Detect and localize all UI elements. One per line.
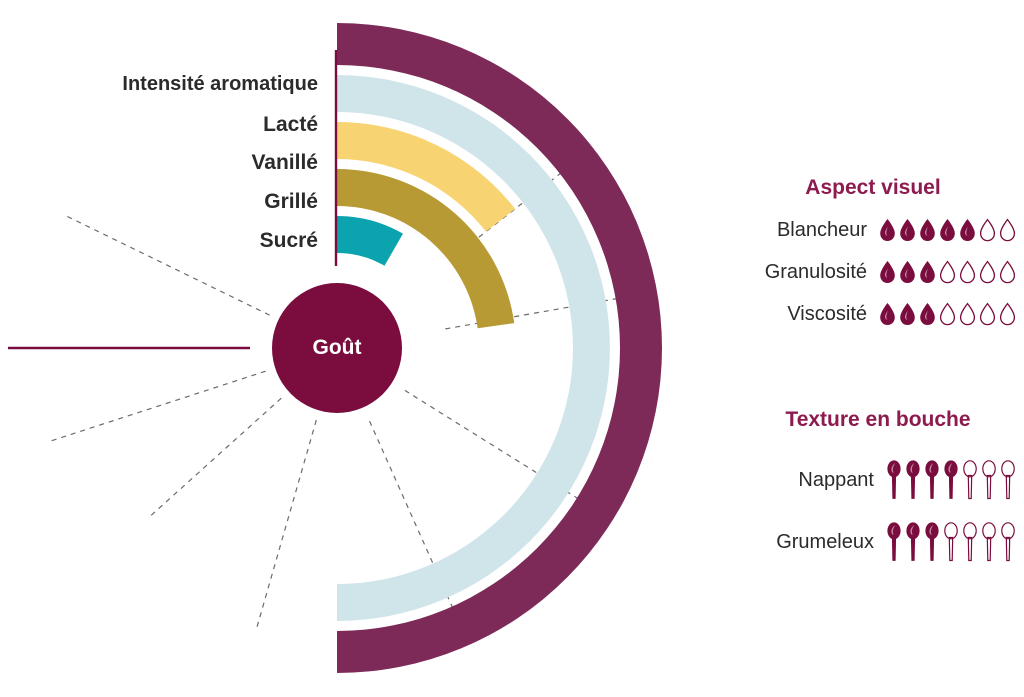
drop-icon: [919, 218, 936, 242]
panel-title-texture-en-bouche: Texture en bouche: [748, 408, 1016, 432]
rating-row-blancheur: Blancheur: [748, 218, 1016, 242]
rating-label-viscosite: Viscosité: [787, 303, 879, 326]
spoon-icon: [905, 522, 921, 562]
drop-icon: [879, 302, 896, 326]
rating-icons-nappant: [886, 460, 1016, 500]
axis-label-intensite-aromatique: Intensité aromatique: [0, 74, 318, 94]
drop-icon: [899, 260, 916, 284]
radial-gridline-6: [52, 371, 266, 441]
spoon-icon: [924, 460, 940, 500]
drop-icon: [899, 302, 916, 326]
drop-icon: [919, 260, 936, 284]
spoon-icon: [981, 522, 997, 562]
rating-label-grumeleux: Grumeleux: [776, 531, 886, 554]
spoon-icon: [1000, 522, 1016, 562]
panel-texture-en-bouche: Texture en bouche Nappant Grumeleux: [748, 408, 1016, 562]
drop-icon: [999, 302, 1016, 326]
spoon-icon: [943, 460, 959, 500]
spoon-icon: [962, 460, 978, 500]
axis-label-sucre: Sucré: [0, 230, 318, 251]
drop-icon: [979, 260, 996, 284]
spoon-icon: [886, 460, 902, 500]
drop-icon: [919, 302, 936, 326]
drop-icon: [999, 260, 1016, 284]
drop-icon: [999, 218, 1016, 242]
spoon-icon: [1000, 460, 1016, 500]
rating-row-nappant: Nappant: [748, 460, 1016, 500]
spoon-icon: [924, 522, 940, 562]
spoon-icon: [962, 522, 978, 562]
drop-icon: [959, 260, 976, 284]
rating-label-nappant: Nappant: [798, 469, 886, 492]
spoon-icon: [886, 522, 902, 562]
drop-icon: [959, 302, 976, 326]
drop-icon: [979, 302, 996, 326]
drop-icon: [979, 218, 996, 242]
rating-icons-viscosite: [879, 302, 1016, 326]
drop-icon: [879, 218, 896, 242]
sensory-profile-infographic: Goût Intensité aromatique Lacté Vanillé …: [0, 0, 1024, 697]
rating-row-viscosite: Viscosité: [748, 302, 1016, 326]
radial-band-sucr: [337, 216, 403, 266]
drop-icon: [959, 218, 976, 242]
rating-icons-granulosite: [879, 260, 1016, 284]
rating-row-granulosite: Granulosité: [748, 260, 1016, 284]
rating-label-granulosite: Granulosité: [765, 261, 879, 284]
drop-icon: [939, 302, 956, 326]
axis-label-lacte: Lacté: [0, 114, 318, 135]
panel-title-aspect-visuel: Aspect visuel: [748, 176, 1016, 200]
spoon-icon: [981, 460, 997, 500]
drop-icon: [939, 260, 956, 284]
rating-label-blancheur: Blancheur: [777, 219, 879, 242]
rating-icons-blancheur: [879, 218, 1016, 242]
panel-aspect-visuel: Aspect visuel Blancheur Granulosité Visc…: [748, 176, 1016, 326]
drop-icon: [939, 218, 956, 242]
rating-icons-grumeleux: [886, 522, 1016, 562]
rating-row-grumeleux: Grumeleux: [748, 522, 1016, 562]
axis-label-grille: Grillé: [0, 191, 318, 212]
radial-gridline-4: [256, 420, 317, 631]
spoon-icon: [943, 522, 959, 562]
radial-gridline-5: [147, 398, 281, 518]
hub-label: Goût: [272, 336, 402, 360]
spoon-icon: [905, 460, 921, 500]
axis-label-vanille: Vanillé: [0, 152, 318, 173]
drop-icon: [879, 260, 896, 284]
drop-icon: [899, 218, 916, 242]
